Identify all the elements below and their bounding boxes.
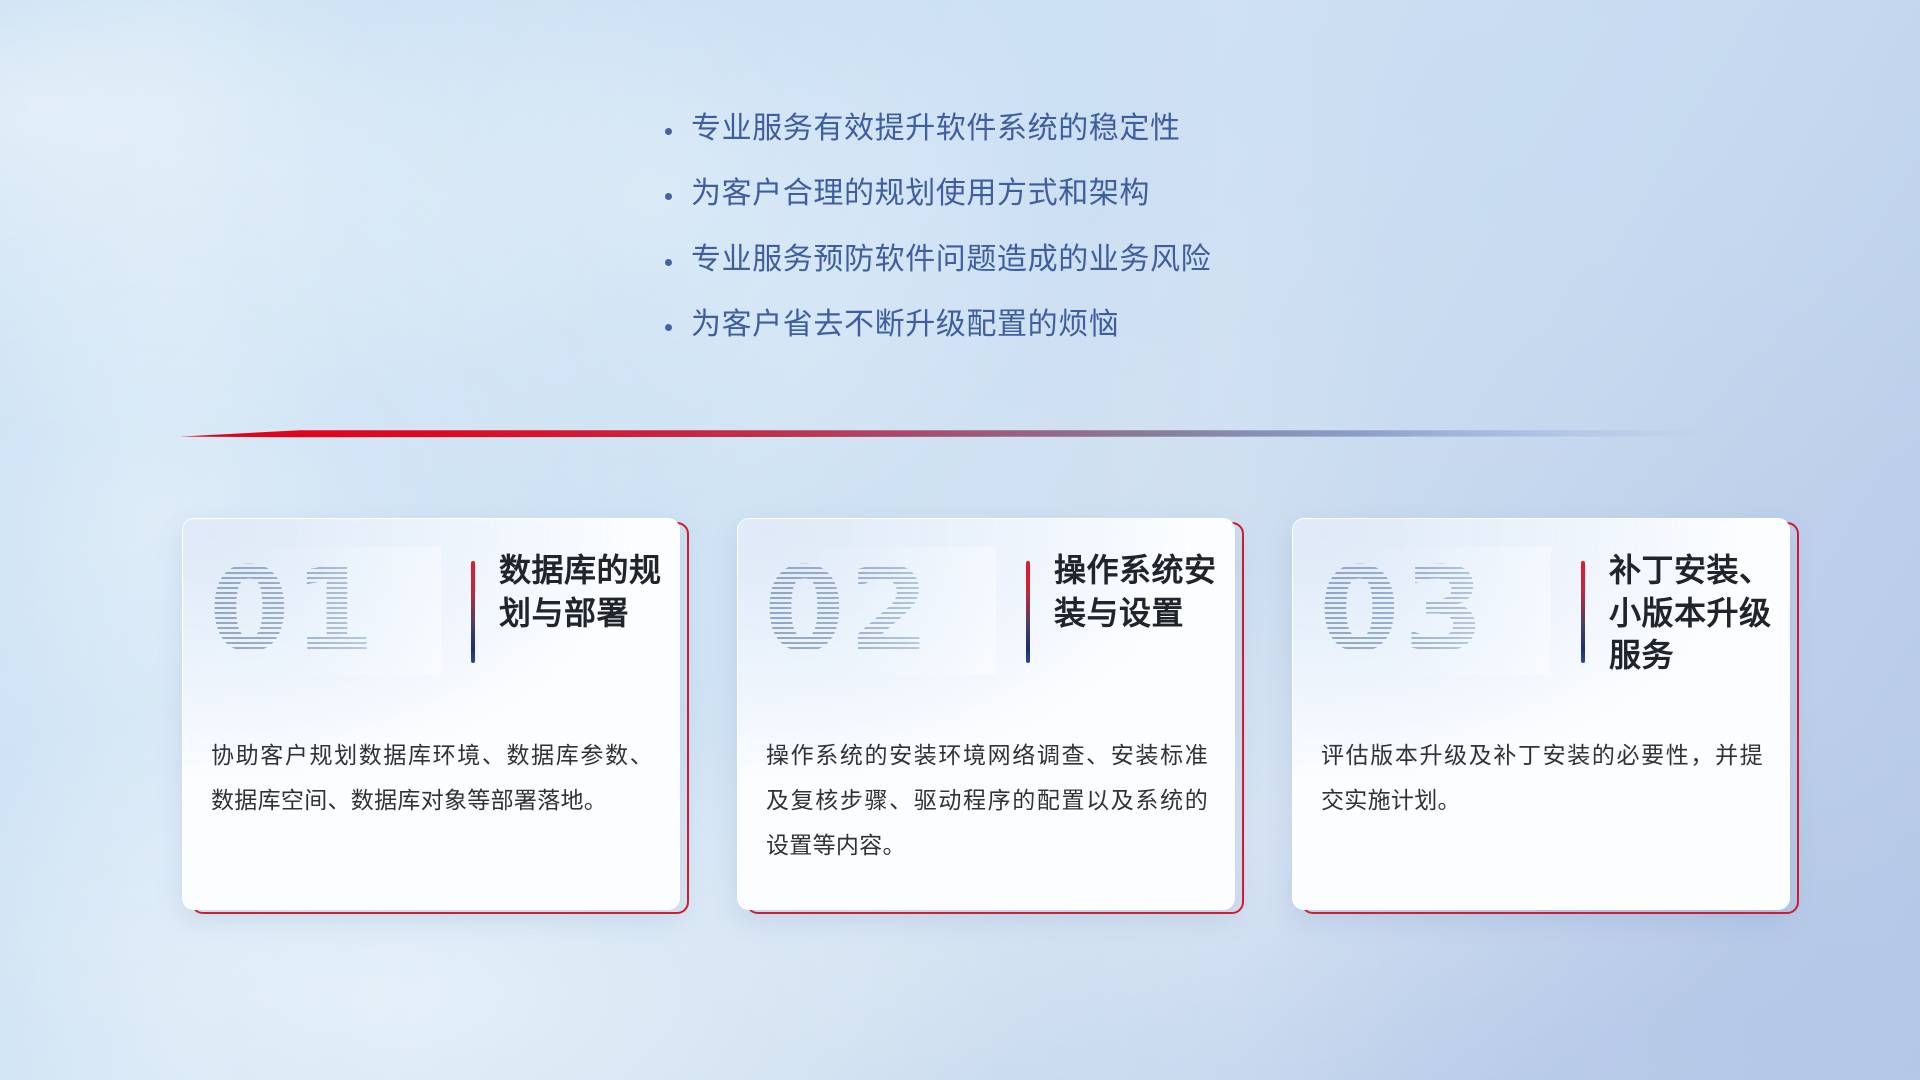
service-card-row: 01 数据库的规划与部署 协助客户规划数据库环境、数据库参数、数据库空间、数据库… (182, 518, 1792, 928)
card-body-text: 协助客户规划数据库环境、数据库参数、数据库空间、数据库对象等部署落地。 (211, 733, 653, 823)
service-card[interactable]: 02 操作系统安装与设置 操作系统的安装环境网络调查、安装标准及复核步骤、驱动程… (737, 518, 1235, 910)
card-accent-bar (471, 561, 475, 663)
card-accent-bar (1026, 561, 1030, 663)
bullet-dot-icon (665, 113, 691, 139)
card-title: 操作系统安装与设置 (1054, 549, 1226, 634)
bullet-text: 专业服务预防软件问题造成的业务风险 (691, 241, 1211, 279)
card-number: 02 (764, 547, 996, 675)
bullet-text: 为客户省去不断升级配置的烦恼 (691, 306, 1119, 344)
bullet-text: 为客户合理的规划使用方式和架构 (691, 175, 1150, 213)
card-accent-bar (1581, 561, 1585, 663)
list-item: 为客户省去不断升级配置的烦恼 (665, 306, 1425, 344)
bullet-dot-icon (665, 178, 691, 204)
card-panel: 03 补丁安装、小版本升级服务 评估版本升级及补丁安装的必要性，并提交实施计划。 (1292, 518, 1790, 910)
benefits-bullet-list: 专业服务有效提升软件系统的稳定性 为客户合理的规划使用方式和架构 专业服务预防软… (665, 110, 1425, 372)
bullet-dot-icon (665, 244, 691, 270)
list-item: 专业服务有效提升软件系统的稳定性 (665, 110, 1425, 148)
card-panel: 02 操作系统安装与设置 操作系统的安装环境网络调查、安装标准及复核步骤、驱动程… (737, 518, 1235, 910)
card-body-text: 评估版本升级及补丁安装的必要性，并提交实施计划。 (1321, 733, 1763, 823)
list-item: 为客户合理的规划使用方式和架构 (665, 175, 1425, 213)
list-item: 专业服务预防软件问题造成的业务风险 (665, 241, 1425, 279)
bullet-dot-icon (665, 309, 691, 335)
card-number: 03 (1319, 547, 1551, 675)
bullet-text: 专业服务有效提升软件系统的稳定性 (691, 110, 1181, 148)
card-title: 数据库的规划与部署 (499, 549, 671, 634)
card-panel: 01 数据库的规划与部署 协助客户规划数据库环境、数据库参数、数据库空间、数据库… (182, 518, 680, 910)
card-title: 补丁安装、小版本升级服务 (1609, 549, 1781, 677)
service-card[interactable]: 01 数据库的规划与部署 协助客户规划数据库环境、数据库参数、数据库空间、数据库… (182, 518, 680, 910)
slide-canvas: 专业服务有效提升软件系统的稳定性 为客户合理的规划使用方式和架构 专业服务预防软… (0, 0, 1920, 1080)
card-number-fade-overlay (209, 547, 441, 675)
card-number-fade-overlay (1319, 547, 1551, 675)
card-number: 01 (209, 547, 441, 675)
divider (180, 422, 1725, 448)
card-body-text: 操作系统的安装环境网络调查、安装标准及复核步骤、驱动程序的配置以及系统的设置等内… (766, 733, 1208, 868)
card-number-fade-overlay (764, 547, 996, 675)
service-card[interactable]: 03 补丁安装、小版本升级服务 评估版本升级及补丁安装的必要性，并提交实施计划。 (1292, 518, 1790, 910)
